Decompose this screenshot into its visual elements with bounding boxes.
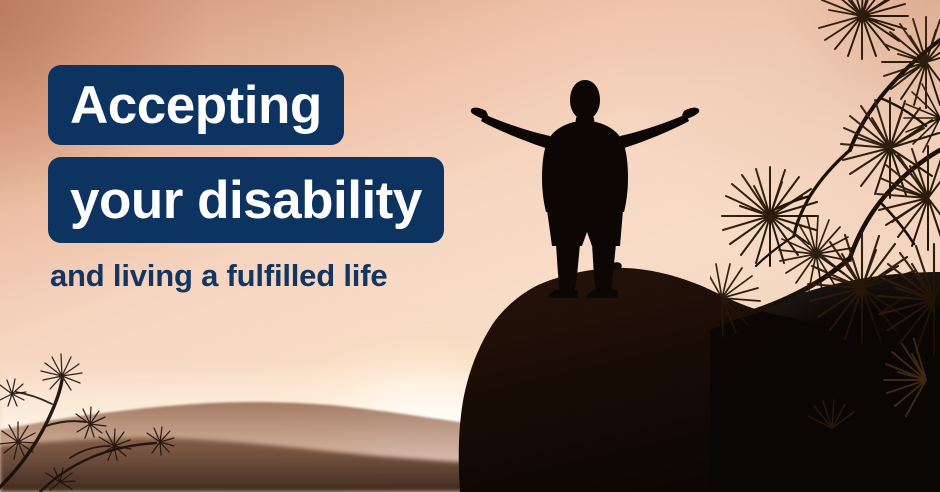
headline-line-2: your disability	[48, 157, 444, 243]
hero-banner: Accepting your disability and living a f…	[0, 0, 940, 492]
headline-line-1: Accepting	[48, 65, 344, 145]
subtitle: and living a fulfilled life	[50, 258, 387, 294]
pine-branch-left-silhouette	[0, 342, 210, 492]
pine-tree-right-silhouette	[710, 0, 940, 492]
person-silhouette	[470, 70, 700, 300]
